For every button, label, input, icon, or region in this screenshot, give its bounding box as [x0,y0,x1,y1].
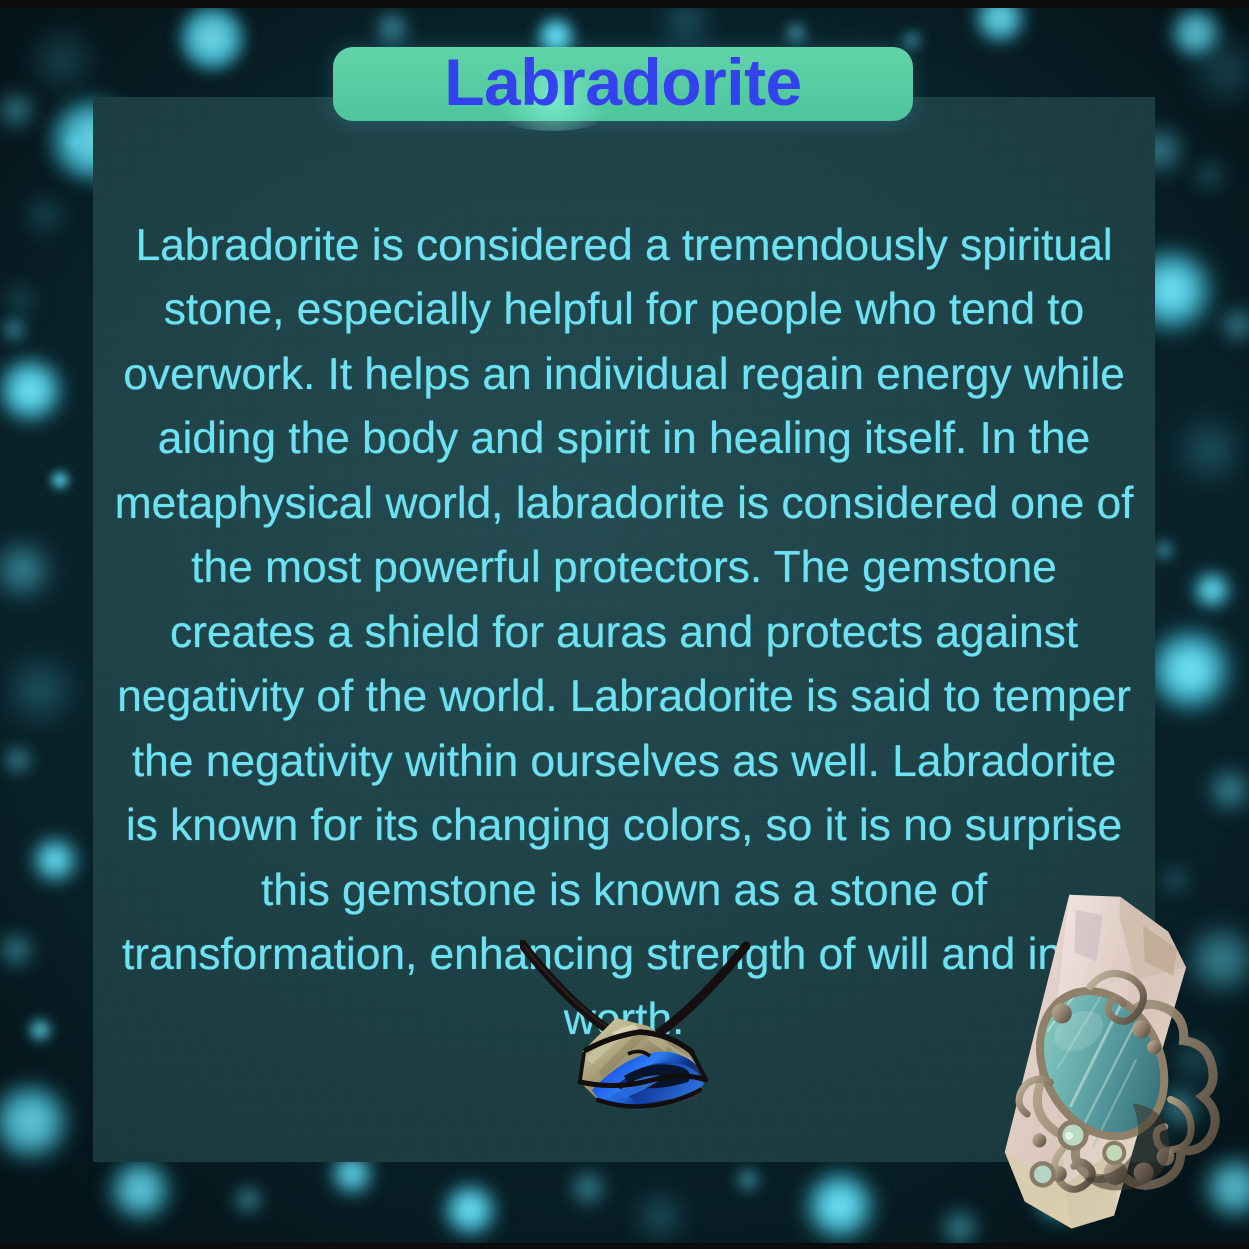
bokeh-light [33,838,77,882]
bokeh-light [806,1172,874,1240]
bottom-letterbox-bar [0,1243,1249,1249]
bokeh-light [736,1168,760,1192]
bokeh-light [0,358,62,422]
bokeh-light [638,1194,682,1238]
bokeh-light [29,1019,51,1041]
poster-canvas: Labradorite is considered a tremendously… [0,0,1249,1249]
bokeh-light [1194,572,1230,608]
bokeh-light [110,1160,170,1220]
bokeh-light [35,33,89,87]
title-badge: Labradorite [333,47,913,121]
bokeh-light [572,1172,604,1204]
bokeh-light [68,134,84,150]
bokeh-light [0,1084,68,1160]
bokeh-light [10,660,70,720]
pendant-necklace-image [520,940,750,1162]
bokeh-light [1196,40,1249,100]
bokeh-light [178,4,246,72]
bokeh-light [1150,630,1230,710]
bokeh-light [5,747,31,773]
bokeh-light [376,12,408,44]
bokeh-light [785,22,807,44]
bokeh-light [6,286,34,314]
bokeh-light [2,318,26,342]
top-letterbox-bar [0,0,1249,8]
bokeh-light [0,92,34,128]
bokeh-light [1210,770,1249,810]
page-title: Labradorite [444,49,802,115]
bokeh-light [1182,422,1238,478]
bokeh-light [1195,160,1225,190]
bokeh-light [444,1184,496,1236]
bokeh-light [0,934,32,966]
bokeh-light [1222,309,1249,341]
bokeh-light [0,544,48,596]
bokeh-light [1154,540,1174,560]
bokeh-light [51,471,69,489]
bokeh-light [902,30,922,50]
crystal-tower-image [950,878,1249,1249]
bokeh-light [28,198,62,232]
bokeh-light [234,1186,262,1214]
